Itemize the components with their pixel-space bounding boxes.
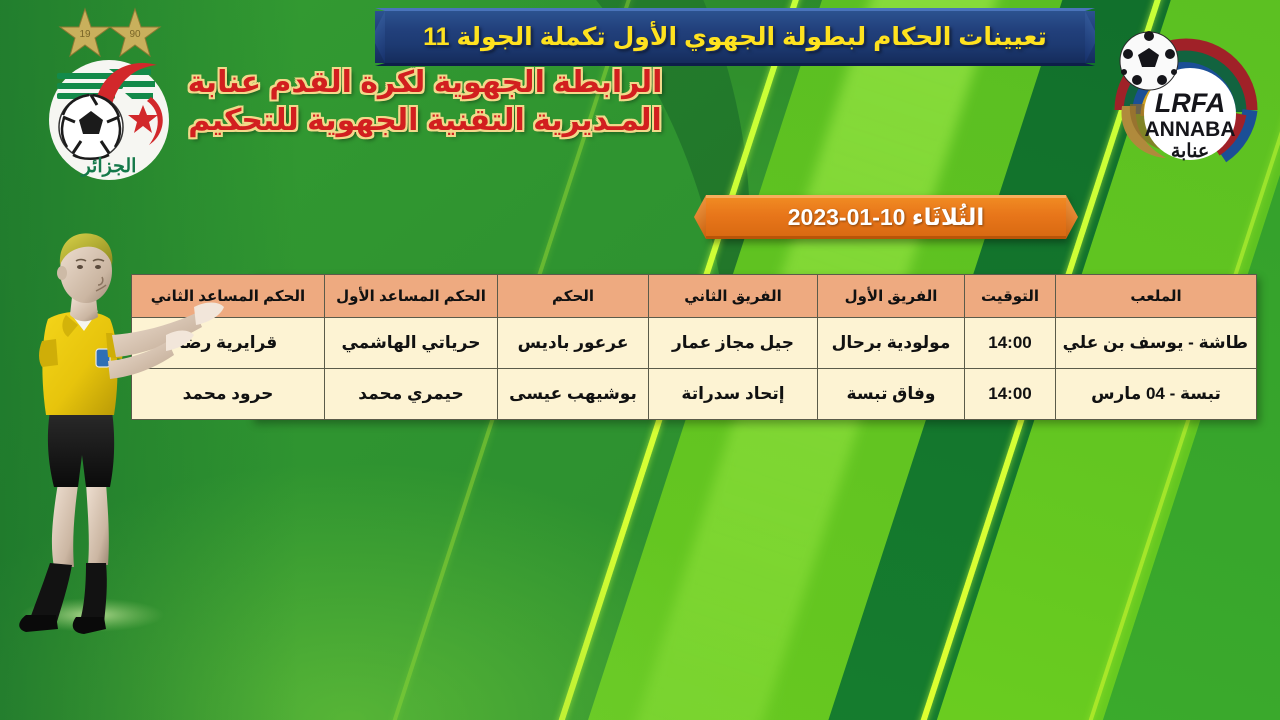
column-header-team1: الفريق الأول [818, 275, 965, 318]
column-header-team2: الفريق الثاني [649, 275, 818, 318]
cell-referee: بوشيهب عيسى [498, 369, 649, 420]
title-banner: تعيينات الحكام لبطولة الجهوي الأول تكملة… [375, 8, 1095, 66]
table-row: تبسة - 04 مارس 14:00 وفاق تبسة إتحاد سدر… [132, 369, 1257, 420]
column-header-stadium: الملعب [1056, 275, 1257, 318]
lrfa-annaba-logo: LRFA ANNABA عنابة [1104, 6, 1264, 166]
referee-3d-figure [12, 215, 247, 655]
table-header-row: الملعب التوقيت الفريق الأول الفريق الثان… [132, 275, 1257, 318]
referee-appointments-table: الملعب التوقيت الفريق الأول الفريق الثان… [131, 274, 1257, 420]
faf-logo-caption: الجزائر [80, 156, 137, 177]
cell-assistant1: حيمري محمد [325, 369, 498, 420]
cell-referee: عرعور باديس [498, 318, 649, 369]
cell-time: 14:00 [965, 369, 1056, 420]
date-banner-text: الثُلاثَاء 10-01-2023 [788, 204, 985, 231]
star-icon-right: 90 [110, 9, 160, 56]
cell-team2: إتحاد سدراتة [649, 369, 818, 420]
cell-team1: مولودية برحال [818, 318, 965, 369]
table-header: الملعب التوقيت الفريق الأول الفريق الثان… [132, 275, 1257, 318]
organisation-line-1: الرابطة الجهوية لكرة القدم عنابة [160, 64, 690, 102]
svg-text:19: 19 [79, 29, 91, 40]
table-body: طاشة - يوسف بن علي 14:00 مولودية برحال ج… [132, 318, 1257, 420]
cell-time: 14:00 [965, 318, 1056, 369]
svg-text:90: 90 [129, 29, 141, 40]
poster-stage: 19 90 [0, 0, 1280, 720]
lrfa-city-arabic: عنابة [1171, 141, 1209, 162]
date-banner: الثُلاثَاء 10-01-2023 [706, 195, 1066, 239]
organisation-line-2: المـديرية التقنية الجهوية للتحكيم [160, 102, 690, 140]
lrfa-city-latin: ANNABA [1145, 118, 1236, 141]
cell-stadium: تبسة - 04 مارس [1056, 369, 1257, 420]
table-row: طاشة - يوسف بن علي 14:00 مولودية برحال ج… [132, 318, 1257, 369]
star-icon-left: 19 [60, 9, 110, 56]
column-header-referee: الحكم [498, 275, 649, 318]
lrfa-abbr-text: LRFA [1155, 88, 1226, 118]
organisation-heading-block: الرابطة الجهوية لكرة القدم عنابة المـدير… [160, 64, 690, 141]
cell-team1: وفاق تبسة [818, 369, 965, 420]
cell-stadium: طاشة - يوسف بن علي [1056, 318, 1257, 369]
column-header-time: التوقيت [965, 275, 1056, 318]
cell-assistant1: حرياتي الهاشمي [325, 318, 498, 369]
cell-team2: جيل مجاز عمار [649, 318, 818, 369]
title-banner-text: تعيينات الحكام لبطولة الجهوي الأول تكملة… [423, 22, 1047, 52]
schedule-table-wrapper: الملعب التوقيت الفريق الأول الفريق الثان… [251, 274, 1257, 420]
column-header-assistant1: الحكم المساعد الأول [325, 275, 498, 318]
